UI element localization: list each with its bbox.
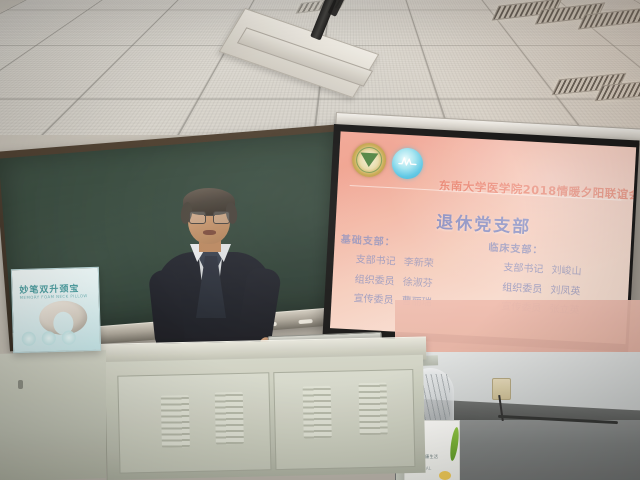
eyeglasses-icon (189, 211, 230, 222)
wall-outlet (492, 378, 511, 400)
podium-door[interactable] (273, 369, 415, 470)
photo-scene: 东南大学医学院2018情暖夕阳联谊会 退休党支部 基础支部： 支部书记 李新荣 … (0, 0, 640, 480)
mouth (203, 230, 216, 235)
feature-icons-row (22, 330, 92, 348)
chalk-piece (298, 319, 312, 324)
podium-door[interactable] (117, 372, 271, 473)
podium-cabinet (104, 355, 426, 480)
feature-icon (22, 332, 36, 346)
product-box: 妙笔双升颈宝 MEMORY FOAM NECK PILLOW (11, 267, 101, 353)
podium-lock[interactable] (18, 380, 23, 389)
leaf-graphic-icon (449, 427, 461, 462)
door-vent (359, 383, 388, 436)
presenter (150, 186, 276, 361)
feature-icon (62, 330, 76, 344)
feature-icon (42, 331, 56, 345)
door-vent (161, 395, 190, 448)
wall-pink-reflection (395, 300, 640, 356)
product-box-subtitle: MEMORY FOAM NECK PILLOW (20, 293, 88, 300)
door-vent (215, 392, 244, 445)
podium-side-panel (0, 350, 106, 480)
door-vent (303, 386, 332, 439)
fruit-graphic-icon (439, 471, 451, 480)
